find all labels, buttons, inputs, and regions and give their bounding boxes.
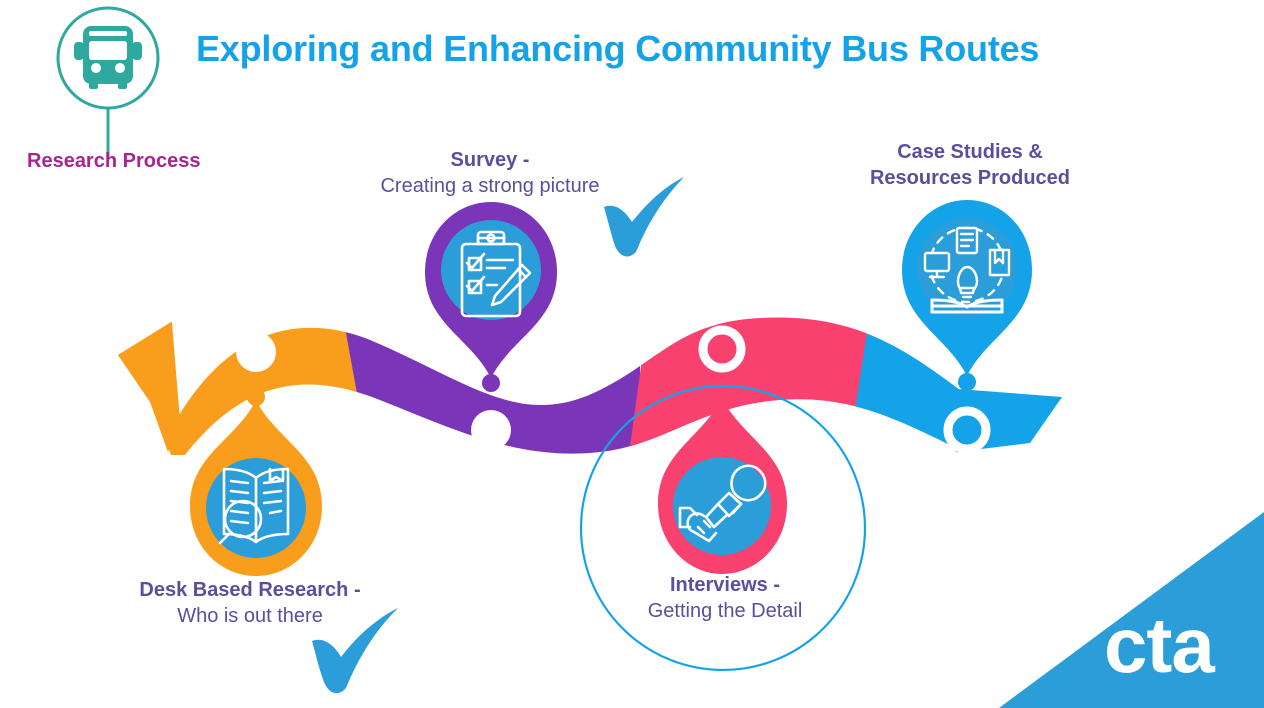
stage-caption-line2: Resources Produced	[820, 166, 1120, 192]
page-title: Exploring and Enhancing Community Bus Ro…	[196, 28, 1196, 70]
stage-caption-line2: Who is out there	[100, 604, 400, 630]
stage-caption-line1: Survey -	[340, 148, 640, 174]
cta-logo-wordmark: cta	[1104, 606, 1214, 684]
stage-caption-line2: Getting the Detail	[575, 599, 875, 625]
stage-caption-interviews: Interviews - Getting the Detail	[575, 573, 875, 624]
stage-caption-line2: Creating a strong picture	[340, 174, 640, 200]
stage-caption-survey: Survey - Creating a strong picture	[340, 148, 640, 199]
stage-caption-desk-based-research: Desk Based Research - Who is out there	[100, 578, 400, 629]
stage-caption-line1: Case Studies &	[820, 140, 1120, 166]
stage-caption-line1: Desk Based Research -	[100, 578, 400, 604]
stage-caption-line1: Interviews -	[575, 573, 875, 599]
research-process-label: Research Process	[27, 150, 200, 173]
stage-caption-case-studies: Case Studies & Resources Produced	[820, 140, 1120, 191]
slide-canvas: Exploring and Enhancing Community Bus Ro…	[0, 0, 1264, 708]
